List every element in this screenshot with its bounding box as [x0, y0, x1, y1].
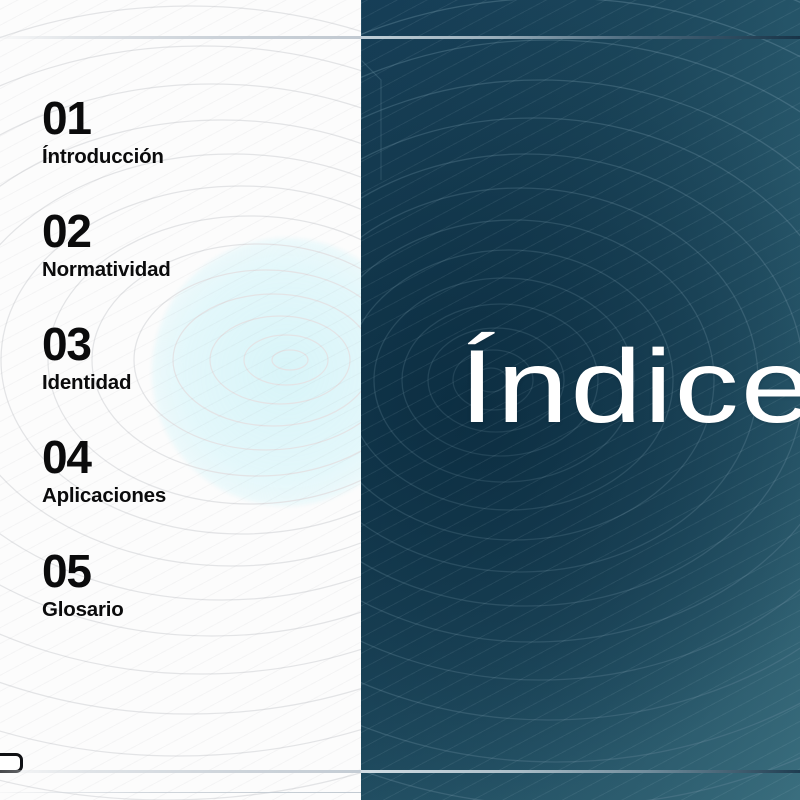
toc-label: Glosario	[42, 596, 342, 623]
slide-canvas: 01 Íntroducción 02 Normatividad 03 Ident…	[0, 0, 800, 800]
toc-number: 05	[42, 549, 342, 594]
toc-item-05[interactable]: 05 Glosario	[42, 549, 342, 623]
toc-item-02[interactable]: 02 Normatividad	[42, 209, 342, 283]
table-of-contents: 01 Íntroducción 02 Normatividad 03 Ident…	[42, 96, 342, 623]
toc-label: Normatividad	[42, 256, 342, 283]
toc-item-04[interactable]: 04 Aplicaciones	[42, 435, 342, 509]
partial-logo-d-icon	[0, 753, 23, 773]
toc-label: Identidad	[42, 369, 342, 396]
toc-item-03[interactable]: 03 Identidad	[42, 322, 342, 396]
toc-number: 01	[42, 96, 342, 141]
toc-number: 03	[42, 322, 342, 367]
toc-label: Aplicaciones	[42, 482, 342, 509]
toc-item-01[interactable]: 01 Íntroducción	[42, 96, 342, 170]
toc-number: 02	[42, 209, 342, 254]
left-panel: 01 Íntroducción 02 Normatividad 03 Ident…	[0, 0, 361, 800]
toc-number: 04	[42, 435, 342, 480]
toc-label: Íntroducción	[42, 143, 342, 170]
page-title: Índice	[459, 335, 800, 439]
